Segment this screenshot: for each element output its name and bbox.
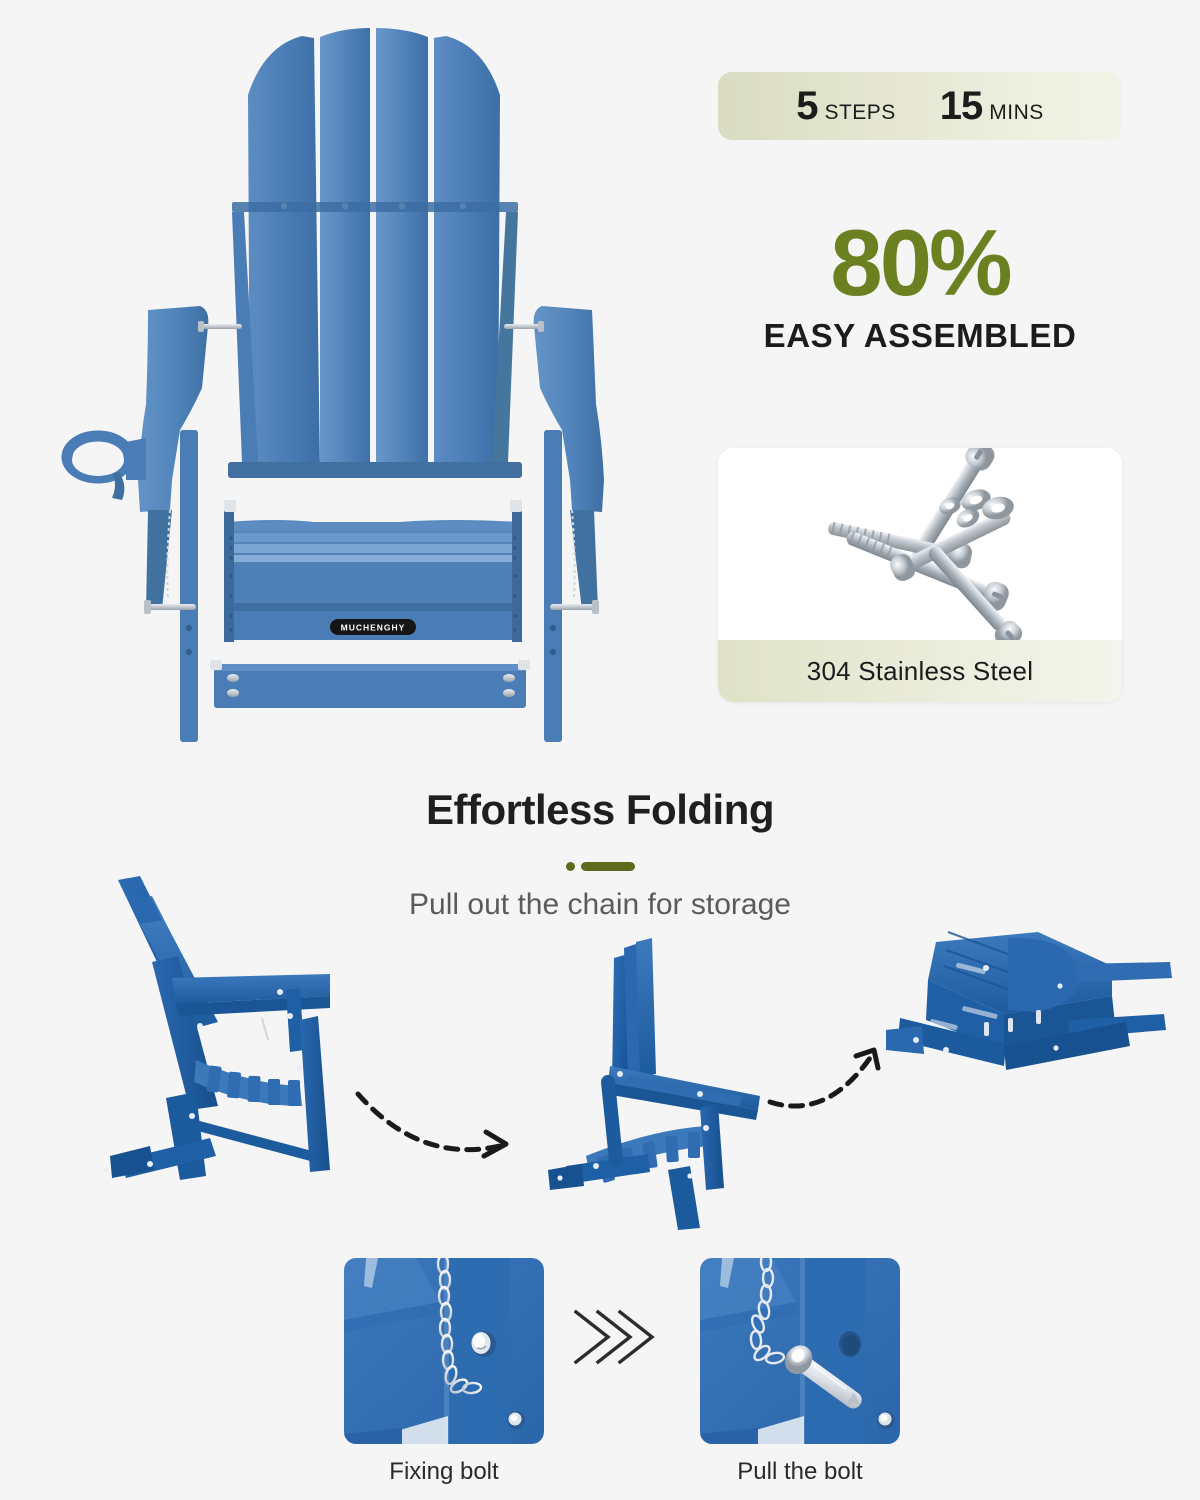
detail-panel-pull-bolt [700, 1258, 900, 1444]
chair-half-folded [548, 938, 760, 1230]
backrest-slats [228, 28, 522, 478]
chevron-right-icon [566, 1300, 662, 1374]
curved-arrow-1 [358, 1094, 506, 1156]
curved-arrow-2 [770, 1050, 878, 1106]
mins-unit: MINS [989, 101, 1044, 125]
chair-unfolded [103, 876, 330, 1180]
svg-text:MUCHENGHY: MUCHENGHY [341, 623, 406, 633]
stainless-steel-card: 304 Stainless Steel [718, 448, 1122, 702]
steps-group: 5 STEPS [796, 84, 896, 129]
bolt-icon [921, 540, 1025, 640]
hardware-photo [718, 448, 1122, 640]
steps-value: 5 [796, 84, 817, 129]
assembly-stat: 80% EASY ASSEMBLED [718, 218, 1122, 355]
detail-panel-fixing-bolt [344, 1258, 544, 1444]
bolt-hole [839, 1331, 861, 1357]
rivet-icon [507, 1411, 525, 1429]
steps-time-badge: 5 STEPS 15 MINS [718, 72, 1122, 140]
seat-slat-assembly: MUCHENGHY [224, 500, 522, 642]
chair-folded-flat [886, 932, 1172, 1070]
exploded-chair-diagram: MUCHENGHY [20, 10, 720, 770]
steps-unit: STEPS [824, 101, 895, 125]
detail-caption-fixing-bolt: Fixing bolt [344, 1458, 544, 1486]
folding-sequence [0, 870, 1200, 1230]
assembly-percent: 80% [718, 218, 1122, 307]
infographic-root: MUCHENGHY 5 STEPS 15 MINS [0, 0, 1200, 1500]
steel-caption: 304 Stainless Steel [718, 640, 1122, 702]
assembly-subtitle: EASY ASSEMBLED [718, 317, 1122, 355]
section-title: Effortless Folding [0, 786, 1200, 834]
mins-value: 15 [940, 84, 983, 129]
detail-caption-pull-bolt: Pull the bolt [700, 1458, 900, 1486]
mins-group: 15 MINS [940, 84, 1044, 129]
brand-label: MUCHENGHY [330, 619, 416, 635]
rivet-icon [877, 1411, 895, 1429]
front-rail [210, 660, 530, 708]
